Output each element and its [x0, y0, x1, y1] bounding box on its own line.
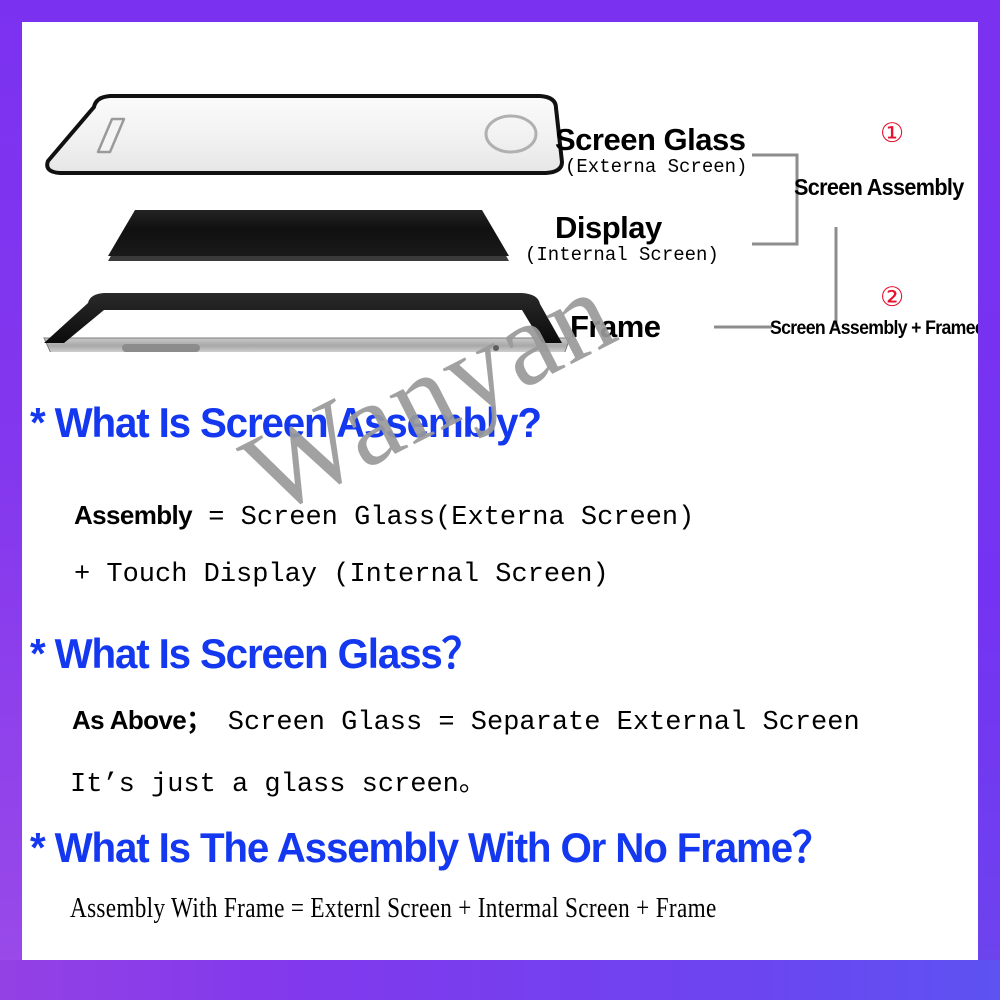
line-with-frame: Assembly With Frame = Externl Screen + I…	[70, 892, 717, 925]
label-display-sub: (Internal Screen)	[525, 244, 719, 266]
heading-what-is-screen-assembly: * What Is Screen Assembly?	[30, 399, 541, 447]
border-right	[978, 0, 1000, 1000]
label-screen-assembly: Screen Assembly	[794, 174, 964, 201]
heading-assembly-with-or-no-frame: * What Is The Assembly With Or No Frame？	[30, 814, 831, 875]
infographic-page: Screen Glass (Externa Screen) Display (I…	[0, 0, 1000, 1000]
line-glass-definition-1: As Above； Screen Glass = Separate Extern…	[72, 700, 860, 738]
line-glass-definition-2: It’s just a glass screen。	[70, 760, 486, 800]
border-top	[0, 0, 1000, 22]
label-screen-assembly-framed: Screen Assembly + Framed	[770, 318, 978, 340]
label-display: Display	[555, 210, 662, 246]
line-assembly-definition-1: Assembly = Screen Glass(Externa Screen)	[74, 500, 694, 533]
border-left	[0, 0, 22, 1000]
label-frame: Frame	[570, 309, 661, 345]
bracket-screen-assembly	[752, 155, 797, 244]
line-rest: Assembly With Frame = Externl Screen + I…	[70, 892, 717, 924]
line-assembly-definition-2: + Touch Display (Internal Screen)	[74, 560, 609, 590]
line-rest: + Touch Display (Internal Screen)	[74, 560, 609, 590]
canvas: Screen Glass (Externa Screen) Display (I…	[22, 22, 978, 960]
heading-what-is-screen-glass: * What Is Screen Glass？	[30, 620, 481, 681]
label-screen-glass-sub: (Externa Screen)	[565, 156, 747, 178]
line-lead: Assembly	[74, 500, 192, 530]
line-rest: = Screen Glass(Externa Screen)	[192, 503, 694, 533]
marker-one: ①	[880, 120, 904, 147]
border-bottom	[0, 960, 1000, 1000]
line-rest: Screen Glass = Separate External Screen	[212, 708, 860, 738]
line-rest: It’s just a glass screen。	[70, 770, 486, 800]
label-screen-glass: Screen Glass	[555, 122, 745, 158]
line-lead: As Above；	[72, 705, 212, 735]
marker-two: ②	[880, 284, 904, 311]
